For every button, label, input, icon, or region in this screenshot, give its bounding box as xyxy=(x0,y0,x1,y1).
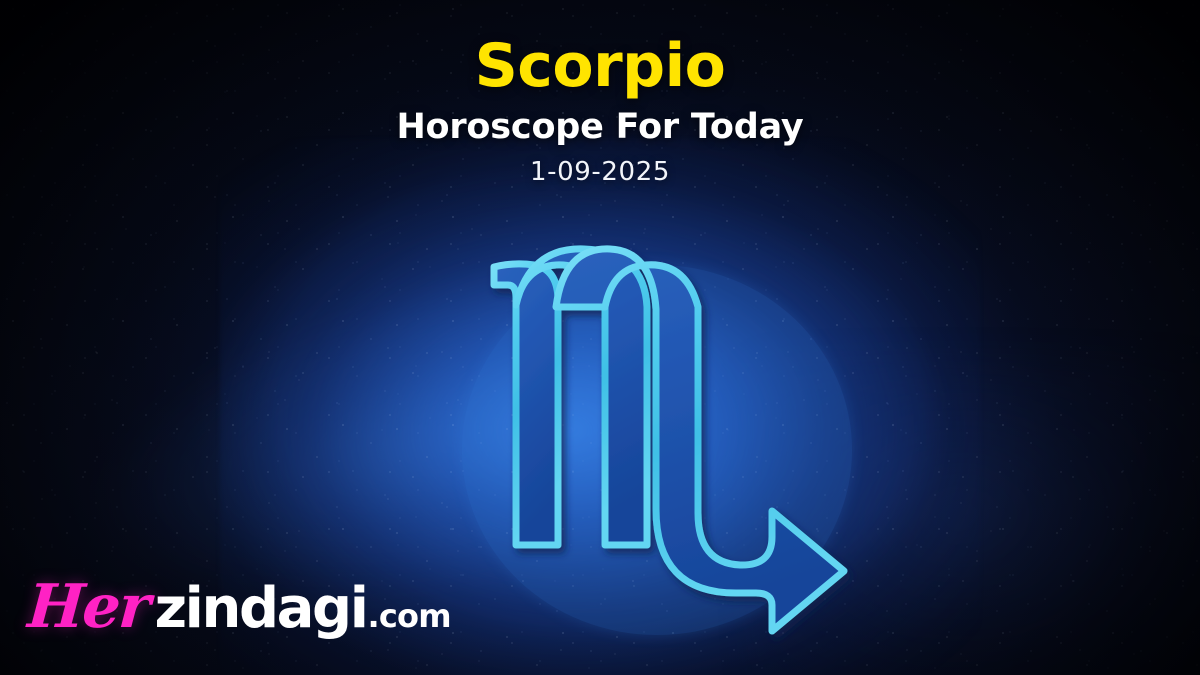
zodiac-sign-title: Scorpio xyxy=(0,36,1200,97)
logo-tld-text: .com xyxy=(368,600,451,632)
scorpio-glyph-icon xyxy=(472,245,872,645)
horoscope-poster: Scorpio Horoscope For Today 1-09-2025 xyxy=(0,0,1200,675)
herzindagi-logo[interactable]: Her zindagi .com xyxy=(28,577,451,637)
logo-her-text: Her xyxy=(26,577,151,637)
poster-subtitle: Horoscope For Today xyxy=(0,109,1200,146)
poster-header: Scorpio Horoscope For Today 1-09-2025 xyxy=(0,36,1200,187)
logo-zindagi-text: zindagi xyxy=(154,581,366,637)
horoscope-date: 1-09-2025 xyxy=(0,157,1200,187)
